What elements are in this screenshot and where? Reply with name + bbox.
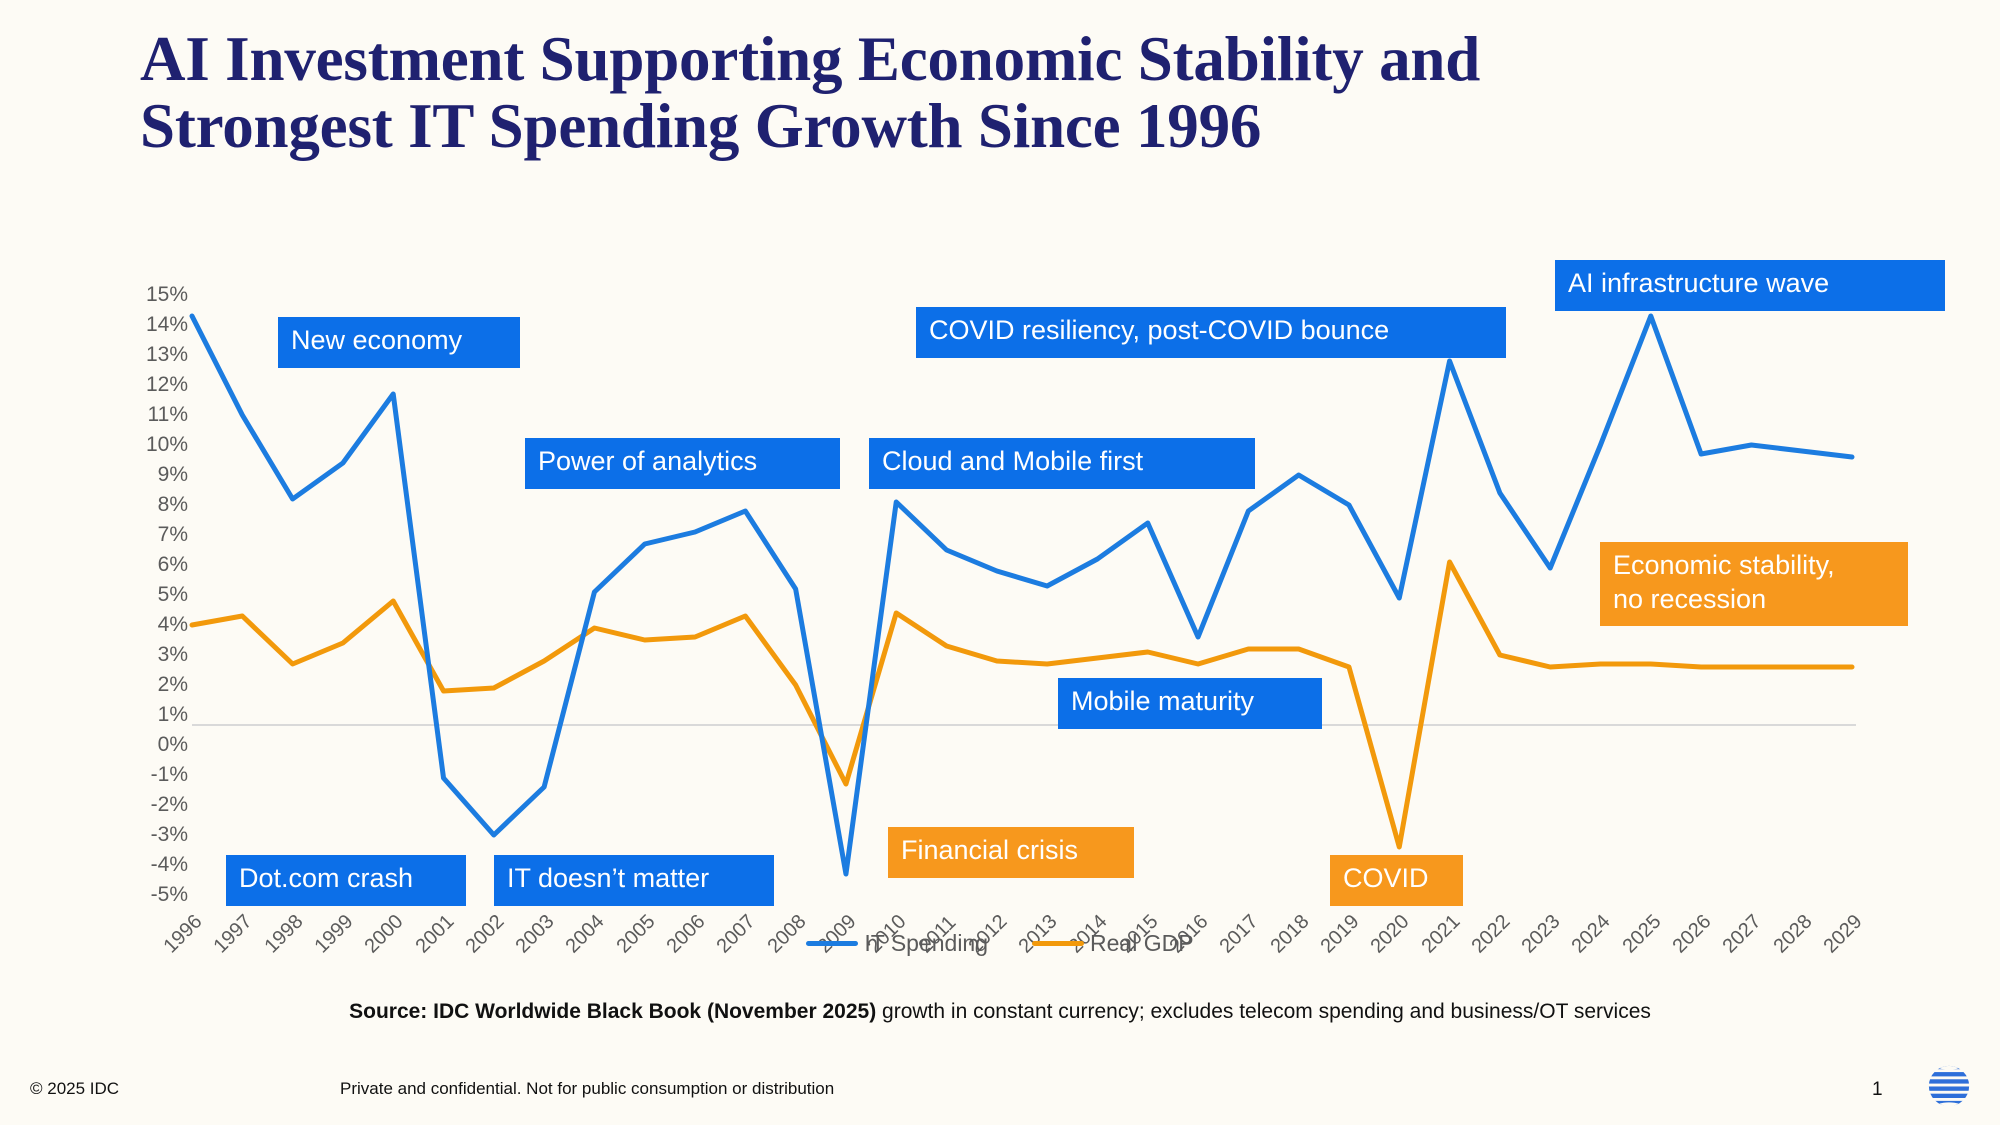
chart-callout: Dot.com crash [226,855,466,906]
y-axis-tick: 5% [158,583,188,607]
idc-globe-logo [1925,1062,1973,1110]
chart-callout: Mobile maturity [1058,678,1322,729]
legend-swatch [806,941,858,946]
chart-callout: Cloud and Mobile first [869,438,1255,489]
y-axis-tick: -5% [151,883,188,907]
chart-callout: New economy [278,317,520,368]
source-rest: growth in constant currency; excludes te… [876,1000,1651,1023]
chart-callout: Financial crisis [888,827,1134,878]
chart-callout: COVID [1330,855,1463,906]
footer-page-number: 1 [1872,1079,1883,1101]
y-axis-tick: 13% [146,343,188,367]
y-axis-tick: 1% [158,703,188,727]
y-axis-tick: 14% [146,313,188,337]
y-axis-tick: 9% [158,463,188,487]
y-axis-tick: -4% [151,853,188,877]
chart-callout: COVID resiliency, post-COVID bounce [916,307,1506,358]
y-axis-tick: 10% [146,433,188,457]
y-axis-tick: 12% [146,373,188,397]
y-axis-tick: 2% [158,673,188,697]
chart-callout: IT doesn’t matter [494,855,774,906]
footer-confidentiality: Private and confidential. Not for public… [340,1079,834,1099]
chart-callout: AI infrastructure wave [1555,260,1945,311]
y-axis-tick: 0% [158,733,188,757]
chart-callout: Power of analytics [525,438,840,489]
legend-label: Real GDP [1090,930,1194,957]
y-axis-tick: 3% [158,643,188,667]
y-axis-tick: 15% [146,283,188,307]
chart-callout: Economic stability, no recession [1600,542,1908,626]
footer-copyright: © 2025 IDC [30,1079,119,1099]
legend-item: IT Spending [806,930,988,957]
source-bold: Source: IDC Worldwide Black Book (Novemb… [349,1000,876,1023]
y-axis: 15%14%13%12%11%10%9%8%7%6%5%4%3%2%1%0%-1… [118,295,188,895]
y-axis-tick: 6% [158,553,188,577]
legend-label: IT Spending [864,930,988,957]
y-axis-tick: 8% [158,493,188,517]
page-title: AI Investment Supporting Economic Stabil… [140,26,1900,161]
y-axis-tick: -2% [151,793,188,817]
y-axis-tick: 4% [158,613,188,637]
y-axis-tick: 7% [158,523,188,547]
chart-legend: IT SpendingReal GDP [0,930,2000,957]
y-axis-tick: 11% [148,403,188,427]
legend-swatch [1032,941,1084,946]
source-note: Source: IDC Worldwide Black Book (Novemb… [0,1000,2000,1024]
y-axis-tick: -3% [151,823,188,847]
legend-item: Real GDP [1032,930,1194,957]
y-axis-tick: -1% [151,763,188,787]
